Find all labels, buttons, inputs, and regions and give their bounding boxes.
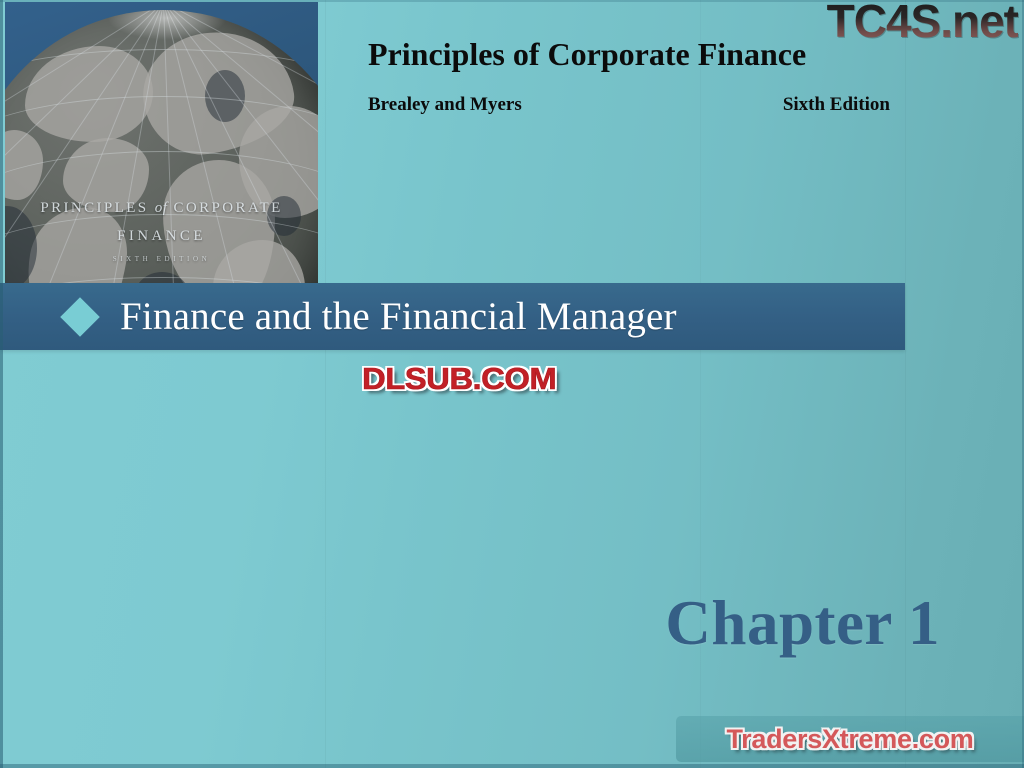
book-cover-image: PRINCIPLES of CORPORATE FINANCE SIXTH ED… xyxy=(5,2,318,283)
tradersxtreme-watermark-bar: TradersXtreme.com xyxy=(676,716,1024,762)
cover-word-corporate: CORPORATE xyxy=(174,200,283,216)
background-band-left xyxy=(325,0,326,768)
slide-edge-top xyxy=(0,0,1024,2)
dlsub-watermark: DLSUB.COM xyxy=(362,363,556,394)
slide-edge-bottom xyxy=(0,764,1024,768)
slide-edge-left xyxy=(0,0,3,768)
diamond-bullet-icon xyxy=(60,297,100,337)
cover-word-of: of xyxy=(155,200,168,216)
chapter-label: Chapter 1 xyxy=(665,592,940,655)
tradersxtreme-watermark: TradersXtreme.com xyxy=(726,726,973,753)
cover-word-principles: PRINCIPLES xyxy=(40,200,148,216)
tc4s-watermark: TC4S.net xyxy=(827,0,1018,44)
authors-label: Brealey and Myers xyxy=(368,94,522,116)
slide-title: Finance and the Financial Manager xyxy=(120,297,677,336)
slide-title-banner: Finance and the Financial Manager xyxy=(0,283,905,350)
cover-title-line-1: PRINCIPLES of CORPORATE xyxy=(5,200,318,217)
slide-canvas: PRINCIPLES of CORPORATE FINANCE SIXTH ED… xyxy=(0,0,1024,768)
edition-label: Sixth Edition xyxy=(783,94,890,116)
cover-title-line-2: FINANCE xyxy=(5,228,318,245)
byline-row: Brealey and Myers Sixth Edition xyxy=(368,94,908,116)
cover-edition-line: SIXTH EDITION xyxy=(5,255,318,263)
header-text-block: Principles of Corporate Finance Brealey … xyxy=(368,38,928,116)
